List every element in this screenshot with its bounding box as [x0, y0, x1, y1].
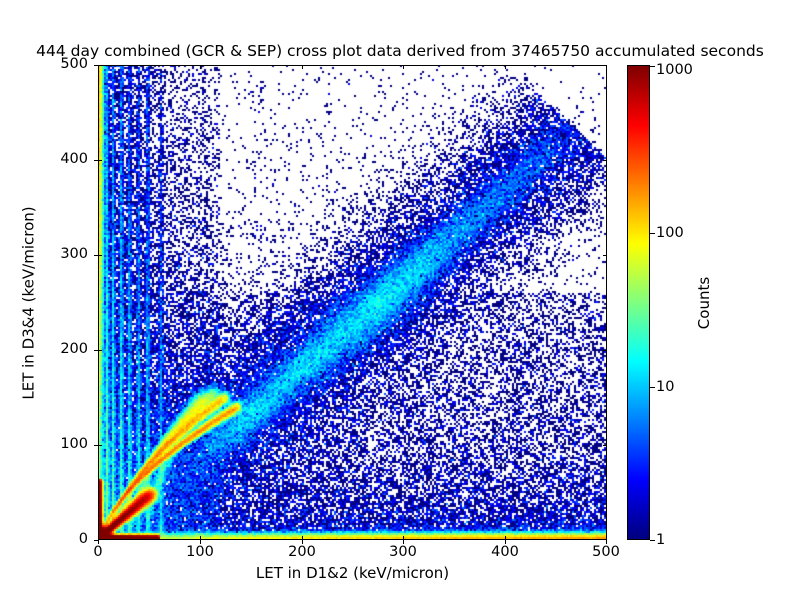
xticklabel-100: 100: [186, 544, 214, 560]
yticklabel-0-text: 0: [79, 531, 88, 547]
yticklabel-300-text: 300: [60, 246, 88, 262]
ytick-500: [94, 65, 98, 66]
yticklabel-500-text: 500: [60, 56, 88, 72]
cbtick-1: [650, 540, 655, 541]
xtick-inner-300: [403, 536, 404, 540]
ytick-0: [94, 540, 98, 541]
xtick-top-300: [403, 65, 404, 69]
colorbar[interactable]: [627, 65, 650, 540]
x-axis-label: LET in D1&2 (keV/micron): [98, 564, 607, 582]
y-axis-label: LET in D3&4 (keV/micron): [20, 66, 40, 541]
title-line-1: 444 day combined (GCR & SEP) cross plot …: [0, 42, 800, 61]
ytick-inner-400: [98, 160, 102, 161]
yticklabel-400-text: 400: [60, 151, 88, 167]
colorbar-label: Counts: [695, 203, 715, 403]
yticklabel-200-text: 200: [60, 341, 88, 357]
xtick-top-100: [200, 65, 201, 69]
cbticklabel-1000: 1000: [656, 62, 693, 78]
cbtick-1000: [650, 66, 655, 67]
xticklabel-400: 400: [491, 544, 519, 560]
cbticklabel-10: 10: [656, 379, 674, 395]
colorbar-gradient: [628, 66, 649, 539]
cbticklabel-100: 100: [656, 225, 684, 241]
xticklabel-200: 200: [288, 544, 316, 560]
cbtick-100: [650, 233, 655, 234]
ytick-right-100: [603, 445, 607, 446]
yticklabel-100-text: 100: [60, 436, 88, 452]
ytick-inner-300: [98, 255, 102, 256]
cbtick-10: [650, 387, 655, 388]
figure-canvas: 444 day combined (GCR & SEP) cross plot …: [0, 0, 800, 600]
cbticklabel-1: 1: [656, 532, 665, 548]
heatmap-canvas: [99, 66, 606, 539]
xtick-inner-200: [302, 536, 303, 540]
xticklabel-500: 500: [592, 544, 620, 560]
ytick-right-300: [603, 255, 607, 256]
xtick-top-200: [302, 65, 303, 69]
ytick-right-400: [603, 160, 607, 161]
xticklabel-300: 300: [389, 544, 417, 560]
ytick-inner-100: [98, 445, 102, 446]
xtick-top-400: [505, 65, 506, 69]
scatter-plot-axes[interactable]: [98, 65, 607, 540]
xticklabel-0: 0: [93, 544, 102, 560]
xtick-inner-400: [505, 536, 506, 540]
xtick-inner-100: [200, 536, 201, 540]
ytick-inner-200: [98, 350, 102, 351]
ytick-right-200: [603, 350, 607, 351]
